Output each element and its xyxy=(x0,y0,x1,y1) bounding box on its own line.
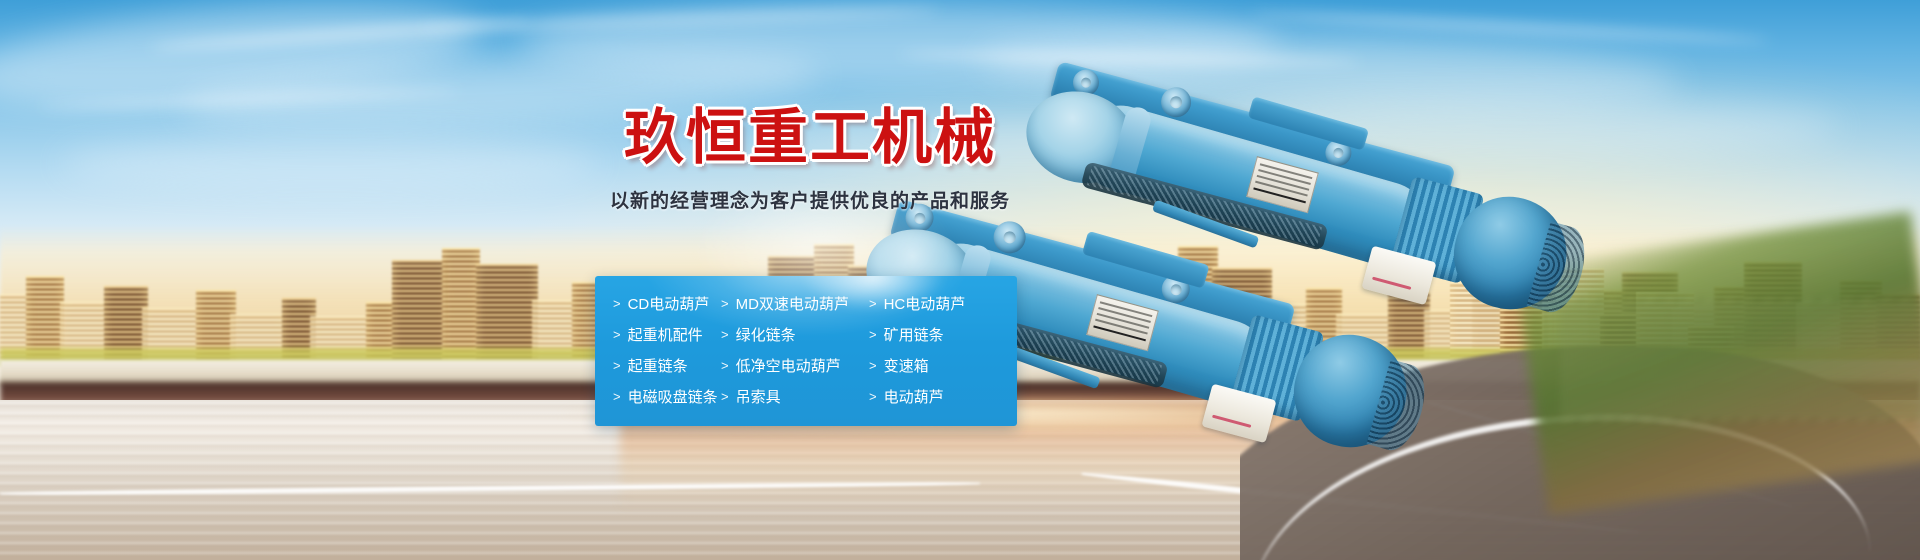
page-title: 玖恒重工机械 xyxy=(595,108,1025,168)
category-label: MD双速电动葫芦 xyxy=(736,297,849,312)
product-category-panel: > CD电动葫芦 > MD双速电动葫芦 > HC电动葫芦 > 起重机配件 > 绿… xyxy=(595,276,1017,426)
category-link-magnetic-chuck-chain[interactable]: > 电磁吸盘链条 xyxy=(613,382,721,413)
hillside-motion-blur xyxy=(1560,300,1920,420)
banner-subtitle: 以新的经营理念为客户提供优良的产品和服务 xyxy=(595,186,1025,213)
banner-text-block: 玖恒重工机械 以新的经营理念为客户提供优良的产品和服务 xyxy=(595,108,1025,213)
chevron-right-icon: > xyxy=(721,359,729,372)
category-link-slings[interactable]: > 吊索具 xyxy=(721,382,869,413)
category-label: 电动葫芦 xyxy=(884,390,944,405)
chevron-right-icon: > xyxy=(869,328,877,341)
category-link-cd-hoist[interactable]: > CD电动葫芦 xyxy=(613,289,721,320)
chevron-right-icon: > xyxy=(869,297,877,310)
chevron-right-icon: > xyxy=(613,390,621,403)
category-label: 起重链条 xyxy=(628,359,688,374)
cloud-shape xyxy=(1220,96,1840,156)
chevron-right-icon: > xyxy=(613,359,621,372)
category-link-electric-hoist[interactable]: > 电动葫芦 xyxy=(869,382,1017,413)
category-link-md-dual-speed-hoist[interactable]: > MD双速电动葫芦 xyxy=(721,289,869,320)
category-label: 变速箱 xyxy=(884,359,929,374)
category-label: 矿用链条 xyxy=(884,328,944,343)
category-label: 电磁吸盘链条 xyxy=(628,390,718,405)
category-label: 低净空电动葫芦 xyxy=(736,359,841,374)
category-label: HC电动葫芦 xyxy=(884,297,966,312)
category-label: 吊索具 xyxy=(736,390,781,405)
category-link-hc-hoist[interactable]: > HC电动葫芦 xyxy=(869,289,1017,320)
category-label: 绿化链条 xyxy=(736,328,796,343)
cloud-shape xyxy=(60,136,600,190)
category-link-low-headroom-hoist[interactable]: > 低净空电动葫芦 xyxy=(721,351,869,382)
chevron-right-icon: > xyxy=(721,390,729,403)
category-label: CD电动葫芦 xyxy=(628,297,710,312)
chevron-right-icon: > xyxy=(869,390,877,403)
chevron-right-icon: > xyxy=(721,328,729,341)
category-link-gearbox[interactable]: > 变速箱 xyxy=(869,351,1017,382)
chevron-right-icon: > xyxy=(721,297,729,310)
product-category-grid: > CD电动葫芦 > MD双速电动葫芦 > HC电动葫芦 > 起重机配件 > 绿… xyxy=(595,276,1017,426)
category-label: 起重机配件 xyxy=(628,328,703,343)
promo-banner: 玖恒重工机械 以新的经营理念为客户提供优良的产品和服务 > CD电动葫芦 > M… xyxy=(0,0,1920,560)
chevron-right-icon: > xyxy=(613,328,621,341)
category-link-landscaping-chain[interactable]: > 绿化链条 xyxy=(721,320,869,351)
chevron-right-icon: > xyxy=(869,359,877,372)
chevron-right-icon: > xyxy=(613,297,621,310)
category-link-crane-parts[interactable]: > 起重机配件 xyxy=(613,320,721,351)
category-link-lifting-chain[interactable]: > 起重链条 xyxy=(613,351,721,382)
category-link-mining-chain[interactable]: > 矿用链条 xyxy=(869,320,1017,351)
